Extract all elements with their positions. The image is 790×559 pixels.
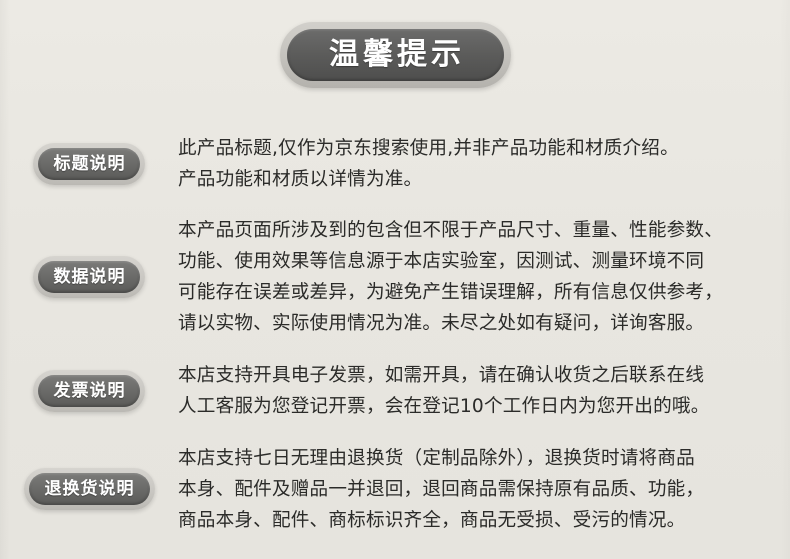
section-body-cell: 本店支持七日无理由退换货（定制品除外），退换货时请将商品 本身、配件及赠品一并退…: [178, 443, 790, 536]
status-badge-inner: 发票说明: [38, 375, 140, 407]
section-label-cell: 标题说明: [0, 143, 178, 185]
banner-header: 温馨提示: [0, 22, 790, 88]
status-badge: 数据说明: [33, 256, 145, 298]
status-badge-inner: 数据说明: [38, 261, 140, 293]
section-body-cell: 此产品标题,仅作为京东搜索使用,并非产品功能和材质介绍。 产品功能和材质以详情为…: [178, 133, 790, 195]
section-label: 退换货说明: [44, 481, 135, 498]
section-body: 本店支持开具电子发票，如需开具，请在确认收货之后联系在线 人工客服为您登记开票，…: [178, 360, 746, 422]
section-body-cell: 本店支持开具电子发票，如需开具，请在确认收货之后联系在线 人工客服为您登记开票，…: [178, 360, 790, 422]
section-body: 此产品标题,仅作为京东搜索使用,并非产品功能和材质介绍。 产品功能和材质以详情为…: [178, 133, 746, 195]
status-badge: 发票说明: [33, 370, 145, 412]
title-pill-inner: 温馨提示: [287, 29, 504, 81]
title-pill: 温馨提示: [280, 22, 511, 88]
notice-section-return: 退换货说明 本店支持七日无理由退换货（定制品除外），退换货时请将商品 本身、配件…: [0, 437, 790, 541]
section-label-cell: 数据说明: [0, 256, 178, 298]
section-label-cell: 退换货说明: [0, 468, 178, 510]
notice-section-data: 数据说明 本产品页面所涉及到的包含但不限于产品尺寸、重量、性能参数、 功能、使用…: [0, 215, 790, 339]
notice-section-title: 标题说明 此产品标题,仅作为京东搜索使用,并非产品功能和材质介绍。 产品功能和材…: [0, 127, 790, 201]
page-title: 温馨提示: [325, 40, 465, 70]
status-badge: 退换货说明: [24, 468, 155, 510]
section-label: 标题说明: [53, 156, 126, 173]
section-label: 数据说明: [53, 269, 126, 286]
status-badge-inner: 标题说明: [38, 148, 140, 180]
section-label: 发票说明: [53, 383, 126, 400]
status-badge-inner: 退换货说明: [29, 473, 150, 505]
section-body: 本产品页面所涉及到的包含但不限于产品尺寸、重量、性能参数、 功能、使用效果等信息…: [178, 215, 746, 339]
notice-section-invoice: 发票说明 本店支持开具电子发票，如需开具，请在确认收货之后联系在线 人工客服为您…: [0, 355, 790, 427]
notice-banner: 温馨提示 标题说明 此产品标题,仅作为京东搜索使用,并非产品功能和材质介绍。 产…: [0, 0, 790, 559]
section-body: 本店支持七日无理由退换货（定制品除外），退换货时请将商品 本身、配件及赠品一并退…: [178, 443, 746, 536]
section-label-cell: 发票说明: [0, 370, 178, 412]
section-body-cell: 本产品页面所涉及到的包含但不限于产品尺寸、重量、性能参数、 功能、使用效果等信息…: [178, 215, 790, 339]
status-badge: 标题说明: [33, 143, 145, 185]
